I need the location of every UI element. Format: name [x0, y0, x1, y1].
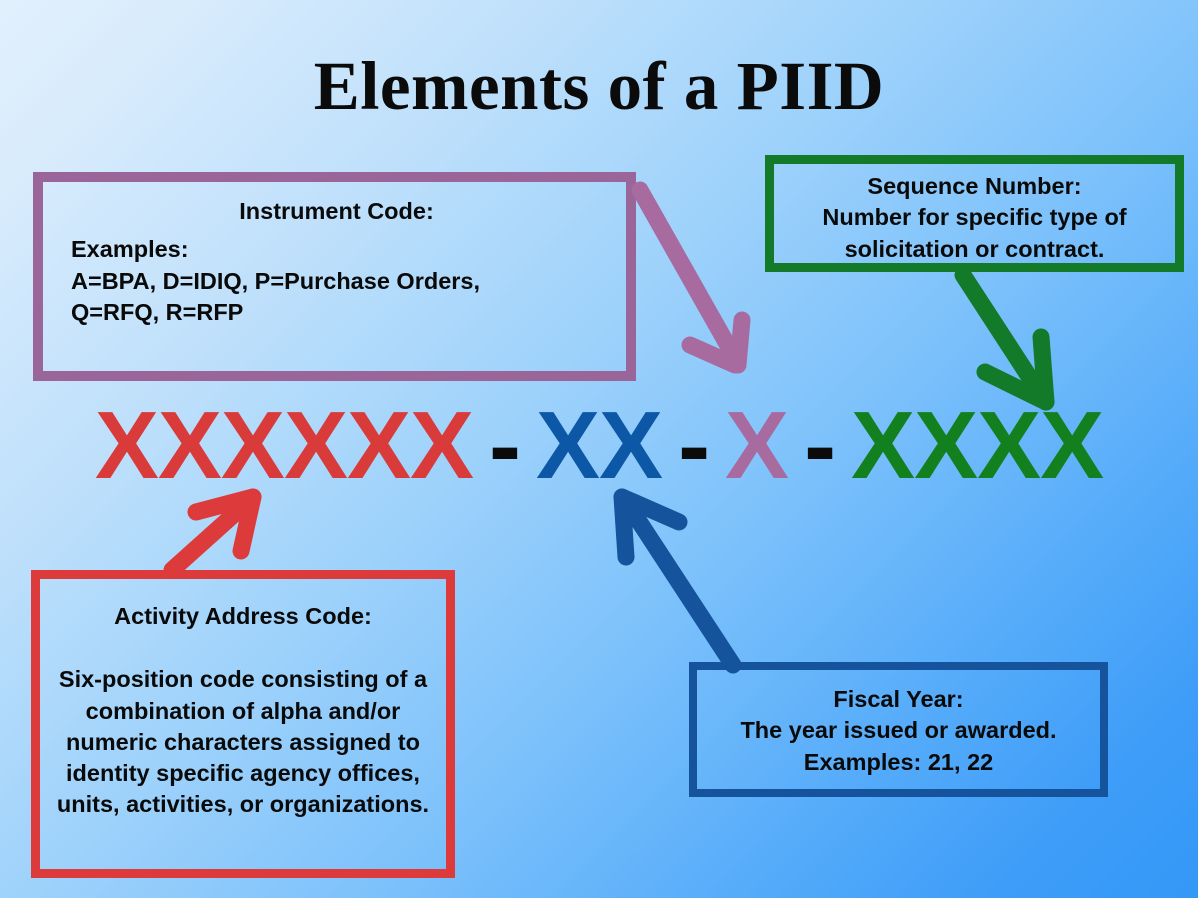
- sequence-line-3: solicitation or contract.: [784, 234, 1165, 265]
- activity-line-4: identity specific agency offices,: [54, 758, 432, 789]
- piid-fiscal-year: XX: [536, 392, 662, 499]
- page-title: Elements of a PIID: [0, 46, 1198, 126]
- slide-canvas: Elements of a PIID Instrument Code: Exam…: [0, 0, 1198, 898]
- piid-instrument-code: X: [725, 392, 788, 499]
- instrument-arrow-icon: [640, 190, 742, 365]
- piid-dash-2: -: [678, 392, 709, 499]
- instrument-line-3: Q=RFQ, R=RFP: [71, 297, 602, 328]
- callout-activity-address-code: Activity Address Code: Six-position code…: [31, 570, 455, 878]
- activity-line-1: Six-position code consisting of a: [54, 664, 432, 695]
- sequence-line-1: Sequence Number:: [784, 171, 1165, 202]
- piid-activity-address-code: XXXXXX: [95, 392, 473, 499]
- fiscal-line-1: Fiscal Year:: [707, 684, 1090, 715]
- activity-line-2: combination of alpha and/or: [54, 696, 432, 727]
- instrument-line-1: Examples:: [71, 234, 602, 265]
- activity-spacer: [54, 632, 432, 664]
- callout-instrument-code: Instrument Code: Examples: A=BPA, D=IDIQ…: [33, 172, 636, 381]
- piid-sequence-number: XXXX: [851, 392, 1103, 499]
- sequence-arrow-icon: [963, 275, 1046, 402]
- activity-arrow-icon: [172, 497, 253, 570]
- callout-sequence-number: Sequence Number: Number for specific typ…: [765, 155, 1184, 272]
- instrument-heading: Instrument Code:: [71, 196, 602, 227]
- activity-line-5: units, activities, or organizations.: [54, 789, 432, 820]
- fiscal-line-2: The year issued or awarded.: [707, 715, 1090, 746]
- piid-dash-3: -: [804, 392, 835, 499]
- callout-fiscal-year: Fiscal Year: The year issued or awarded.…: [689, 662, 1108, 797]
- fiscal-arrow-icon: [622, 497, 733, 665]
- activity-heading: Activity Address Code:: [54, 601, 432, 632]
- instrument-line-2: A=BPA, D=IDIQ, P=Purchase Orders,: [71, 266, 602, 297]
- sequence-line-2: Number for specific type of: [784, 202, 1165, 233]
- piid-pattern: XXXXXX-XX-X-XXXX: [0, 396, 1198, 496]
- piid-dash-1: -: [489, 392, 520, 499]
- fiscal-line-3: Examples: 21, 22: [707, 747, 1090, 778]
- activity-line-3: numeric characters assigned to: [54, 727, 432, 758]
